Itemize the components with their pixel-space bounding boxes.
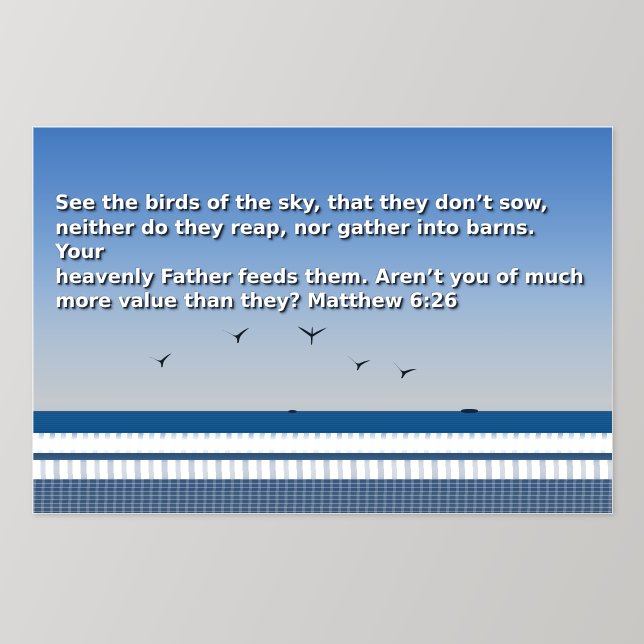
horizon-speck-1 bbox=[288, 410, 297, 413]
bird-3-icon bbox=[295, 324, 330, 347]
sky-gradient bbox=[33, 127, 612, 412]
bird-2-icon bbox=[220, 325, 252, 346]
poster-artwork[interactable]: See the birds of the sky, that they don’… bbox=[33, 127, 612, 513]
near-water bbox=[33, 479, 612, 513]
poster-page: See the birds of the sky, that they don’… bbox=[0, 0, 644, 644]
surf-line-far bbox=[33, 433, 612, 455]
horizon-speck-2 bbox=[461, 409, 478, 413]
beach-photograph bbox=[33, 127, 612, 513]
horizon-haze bbox=[33, 389, 612, 412]
